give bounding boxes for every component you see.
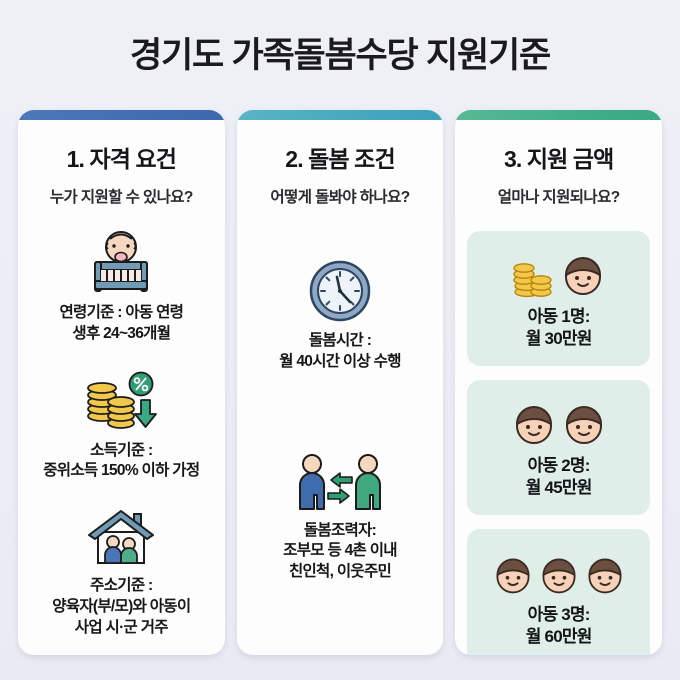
card-subtitle-care: 어떻게 돌봐야 하나요?: [270, 185, 409, 207]
card-accent-bar: [237, 110, 444, 120]
care-lead-helper: 돌봄조력자:: [283, 521, 397, 542]
card-care-conditions: 2. 돌봄 조건 어떻게 돌봐야 하나요?: [237, 110, 444, 655]
criteria-text-address: 주소기준 : 양육자(부/모)와 아동이 사업 시·군 거주: [52, 576, 190, 638]
care-body-helper-2: 친인척, 이웃주민: [283, 562, 397, 583]
care-body-helper-1: 조부모 등 4촌 이내: [283, 541, 397, 562]
card-accent-bar: [455, 110, 662, 120]
infographic-root: 경기도 가족돌봄수당 지원기준 1. 자격 요건 누가 지원할 수 있나요?: [0, 0, 680, 680]
care-text-hours: 돌봄시간 : 월 40시간 이상 수행: [279, 331, 401, 373]
criteria-body-address-2: 사업 시·군 거주: [52, 618, 190, 639]
criteria-body-income: 중위소득 150% 이하 가정: [43, 461, 199, 482]
amount-text-three-children: 아동 3명: 월 60만원: [526, 604, 592, 648]
care-item-hours: 돌봄시간 : 월 40시간 이상 수행: [245, 259, 436, 373]
amount-value-two-children: 월 45만원: [526, 477, 592, 499]
card-subtitle-amount: 얼마나 지원되나요?: [498, 185, 620, 207]
card-qualification: 1. 자격 요건 누가 지원할 수 있나요?: [18, 110, 225, 655]
card-subtitle-qualification: 누가 지원할 수 있나요?: [50, 185, 193, 207]
care-body-hours: 월 40시간 이상 수행: [279, 352, 401, 373]
coins-and-one-child-icon: [511, 247, 607, 299]
coins-percent-down-icon: [81, 371, 161, 433]
amount-label-one-child: 아동 1명:: [526, 306, 592, 328]
criteria-item-age: 연령기준 : 아동 연령 생후 24~36개월: [26, 229, 217, 345]
card-support-amount: 3. 지원 금액 얼마나 지원되나요?: [455, 110, 662, 655]
amount-value-three-children: 월 60만원: [526, 626, 592, 648]
clock-icon: [308, 259, 372, 323]
criteria-text-age: 연령기준 : 아동 연령 생후 24~36개월: [59, 303, 183, 345]
card-title-amount: 3. 지원 금액: [504, 140, 613, 174]
criteria-item-income: 소득기준 : 중위소득 150% 이하 가정: [26, 371, 217, 483]
amount-box-three-children: 아동 3명: 월 60만원: [467, 529, 650, 655]
baby-crib-icon: [84, 229, 158, 295]
care-text-helper: 돌봄조력자: 조부모 등 4촌 이내 친인척, 이웃주민: [283, 521, 397, 583]
card-accent-bar: [18, 110, 225, 120]
criteria-lead-income: 소득기준 :: [43, 441, 199, 462]
two-people-exchange-icon: [292, 451, 388, 513]
two-children-icon: [510, 396, 608, 448]
amount-text-two-children: 아동 2명: 월 45만원: [526, 455, 592, 499]
page-title-area: 경기도 가족돌봄수당 지원기준: [0, 0, 680, 104]
amount-label-two-children: 아동 2명:: [526, 455, 592, 477]
criteria-body-address-1: 양육자(부/모)와 아동이: [52, 597, 190, 618]
criteria-item-address: 주소기준 : 양육자(부/모)와 아동이 사업 시·군 거주: [26, 506, 217, 638]
card-title-care: 2. 돌봄 조건: [285, 140, 394, 174]
amount-box-one-child: 아동 1명: 월 30만원: [467, 231, 650, 366]
amount-text-one-child: 아동 1명: 월 30만원: [526, 306, 592, 350]
amount-box-two-children: 아동 2명: 월 45만원: [467, 380, 650, 515]
criteria-lead-address: 주소기준 :: [52, 576, 190, 597]
criteria-text-income: 소득기준 : 중위소득 150% 이하 가정: [43, 441, 199, 483]
amount-label-three-children: 아동 3명:: [526, 604, 592, 626]
page-title: 경기도 가족돌봄수당 지원기준: [130, 27, 550, 78]
care-item-helper: 돌봄조력자: 조부모 등 4촌 이내 친인척, 이웃주민: [245, 451, 436, 583]
criteria-body-age: 생후 24~36개월: [59, 324, 183, 345]
care-lead-hours: 돌봄시간 :: [279, 331, 401, 352]
house-family-icon: [83, 506, 159, 568]
criteria-lead-age: 연령기준 : 아동 연령: [59, 303, 183, 324]
columns-container: 1. 자격 요건 누가 지원할 수 있나요?: [18, 110, 662, 658]
three-children-icon: [491, 545, 627, 597]
amount-value-one-child: 월 30만원: [526, 328, 592, 350]
card-title-qualification: 1. 자격 요건: [67, 140, 176, 174]
amount-list: 아동 1명: 월 30만원: [467, 231, 650, 655]
